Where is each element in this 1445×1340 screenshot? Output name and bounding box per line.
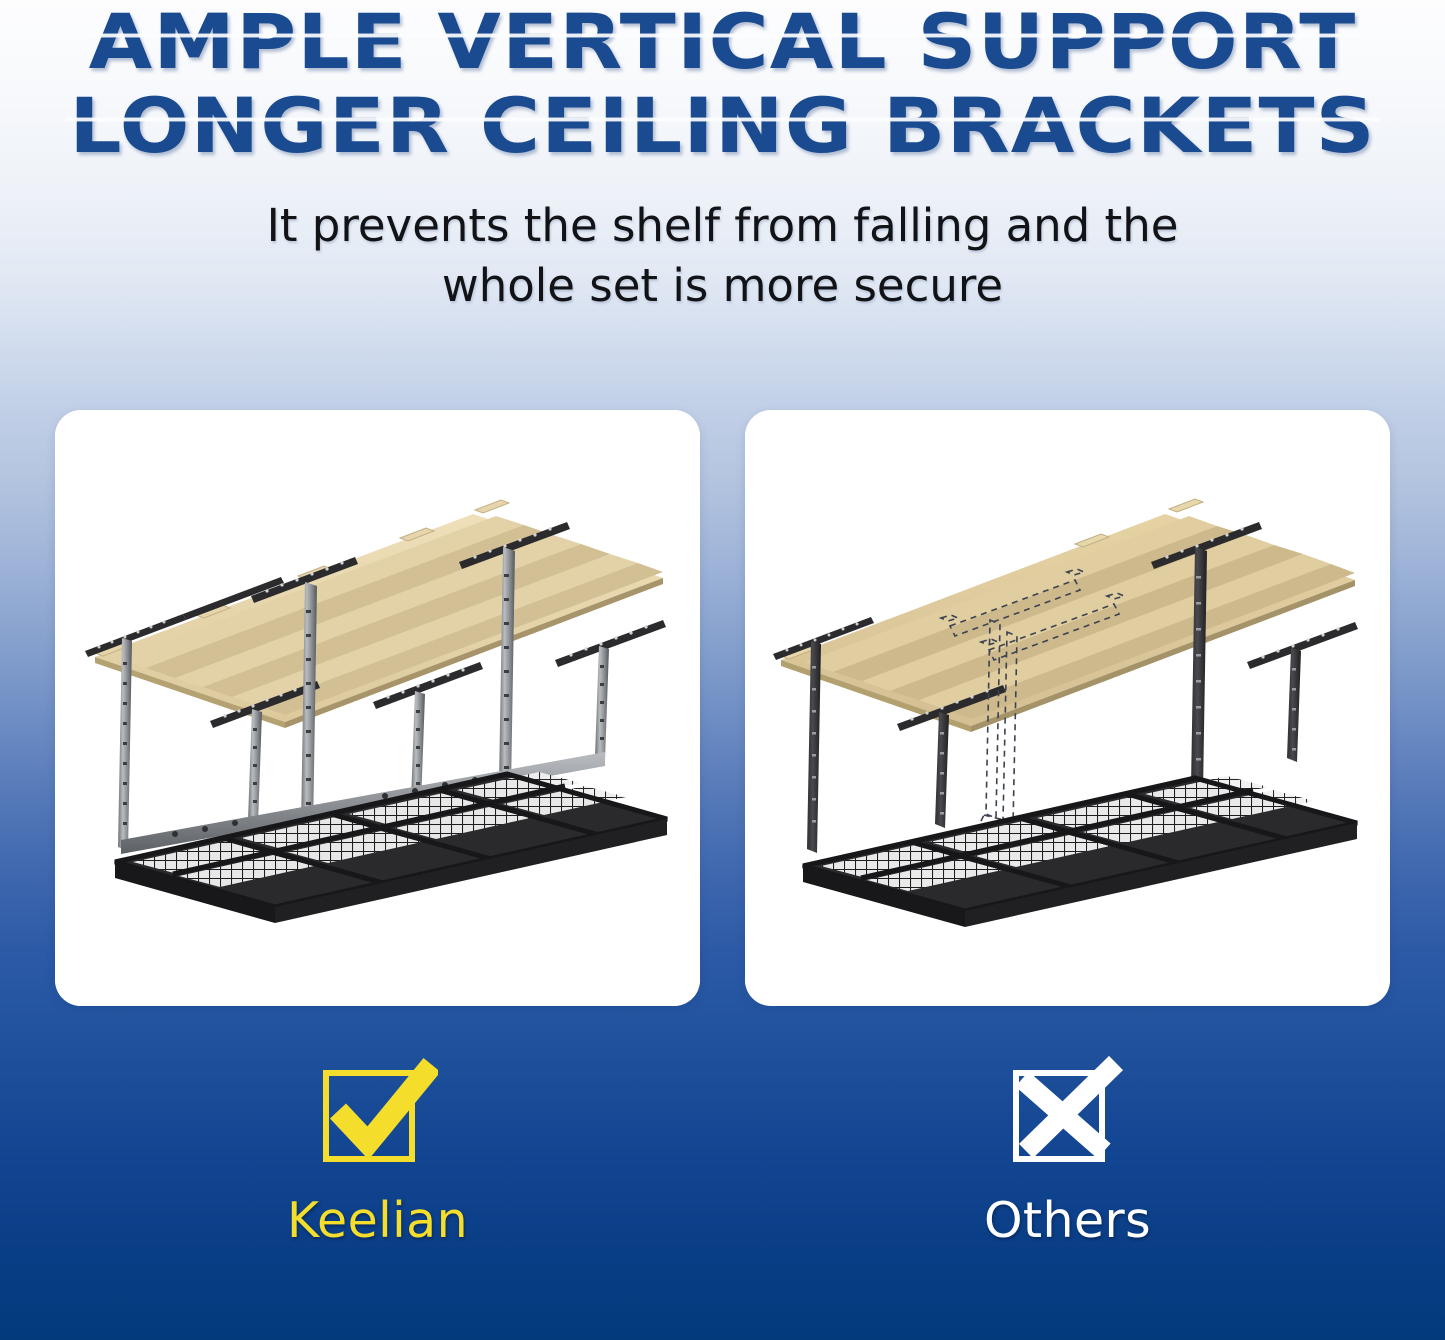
headline-line-1-text: AMPLE VERTICAL SUPPORT <box>89 4 1357 80</box>
verdict-label-keelian: Keelian <box>287 1193 468 1249</box>
card-others-illustration <box>745 410 1390 1006</box>
headline-line-1: AMPLE VERTICAL SUPPORT <box>0 0 1445 80</box>
verdict-keelian: Keelian <box>55 1055 700 1290</box>
verdict-row: Keelian Others <box>55 1055 1390 1290</box>
verdict-others: Others <box>745 1055 1390 1290</box>
comparison-cards <box>55 410 1390 1006</box>
card-keelian-illustration <box>55 410 700 1006</box>
subtitle-block: It prevents the shelf from falling and t… <box>0 196 1445 316</box>
checkbox-check-icon <box>318 1055 438 1175</box>
product-comparison-poster: AMPLE VERTICAL SUPPORT LONGER CEILING BR… <box>0 0 1445 1340</box>
subtitle-line-2: whole set is more secure <box>0 256 1445 316</box>
headline-block: AMPLE VERTICAL SUPPORT LONGER CEILING BR… <box>0 0 1445 164</box>
verdict-label-others: Others <box>984 1193 1151 1249</box>
headline-line-2: LONGER CEILING BRACKETS <box>0 80 1445 164</box>
rack-short-brackets-illustration <box>745 410 1390 1006</box>
headline-line-2-text: LONGER CEILING BRACKETS <box>69 88 1376 164</box>
subtitle-line-1: It prevents the shelf from falling and t… <box>0 196 1445 256</box>
checkbox-cross-icon <box>1008 1055 1128 1175</box>
rack-long-brackets-illustration <box>55 410 700 1006</box>
